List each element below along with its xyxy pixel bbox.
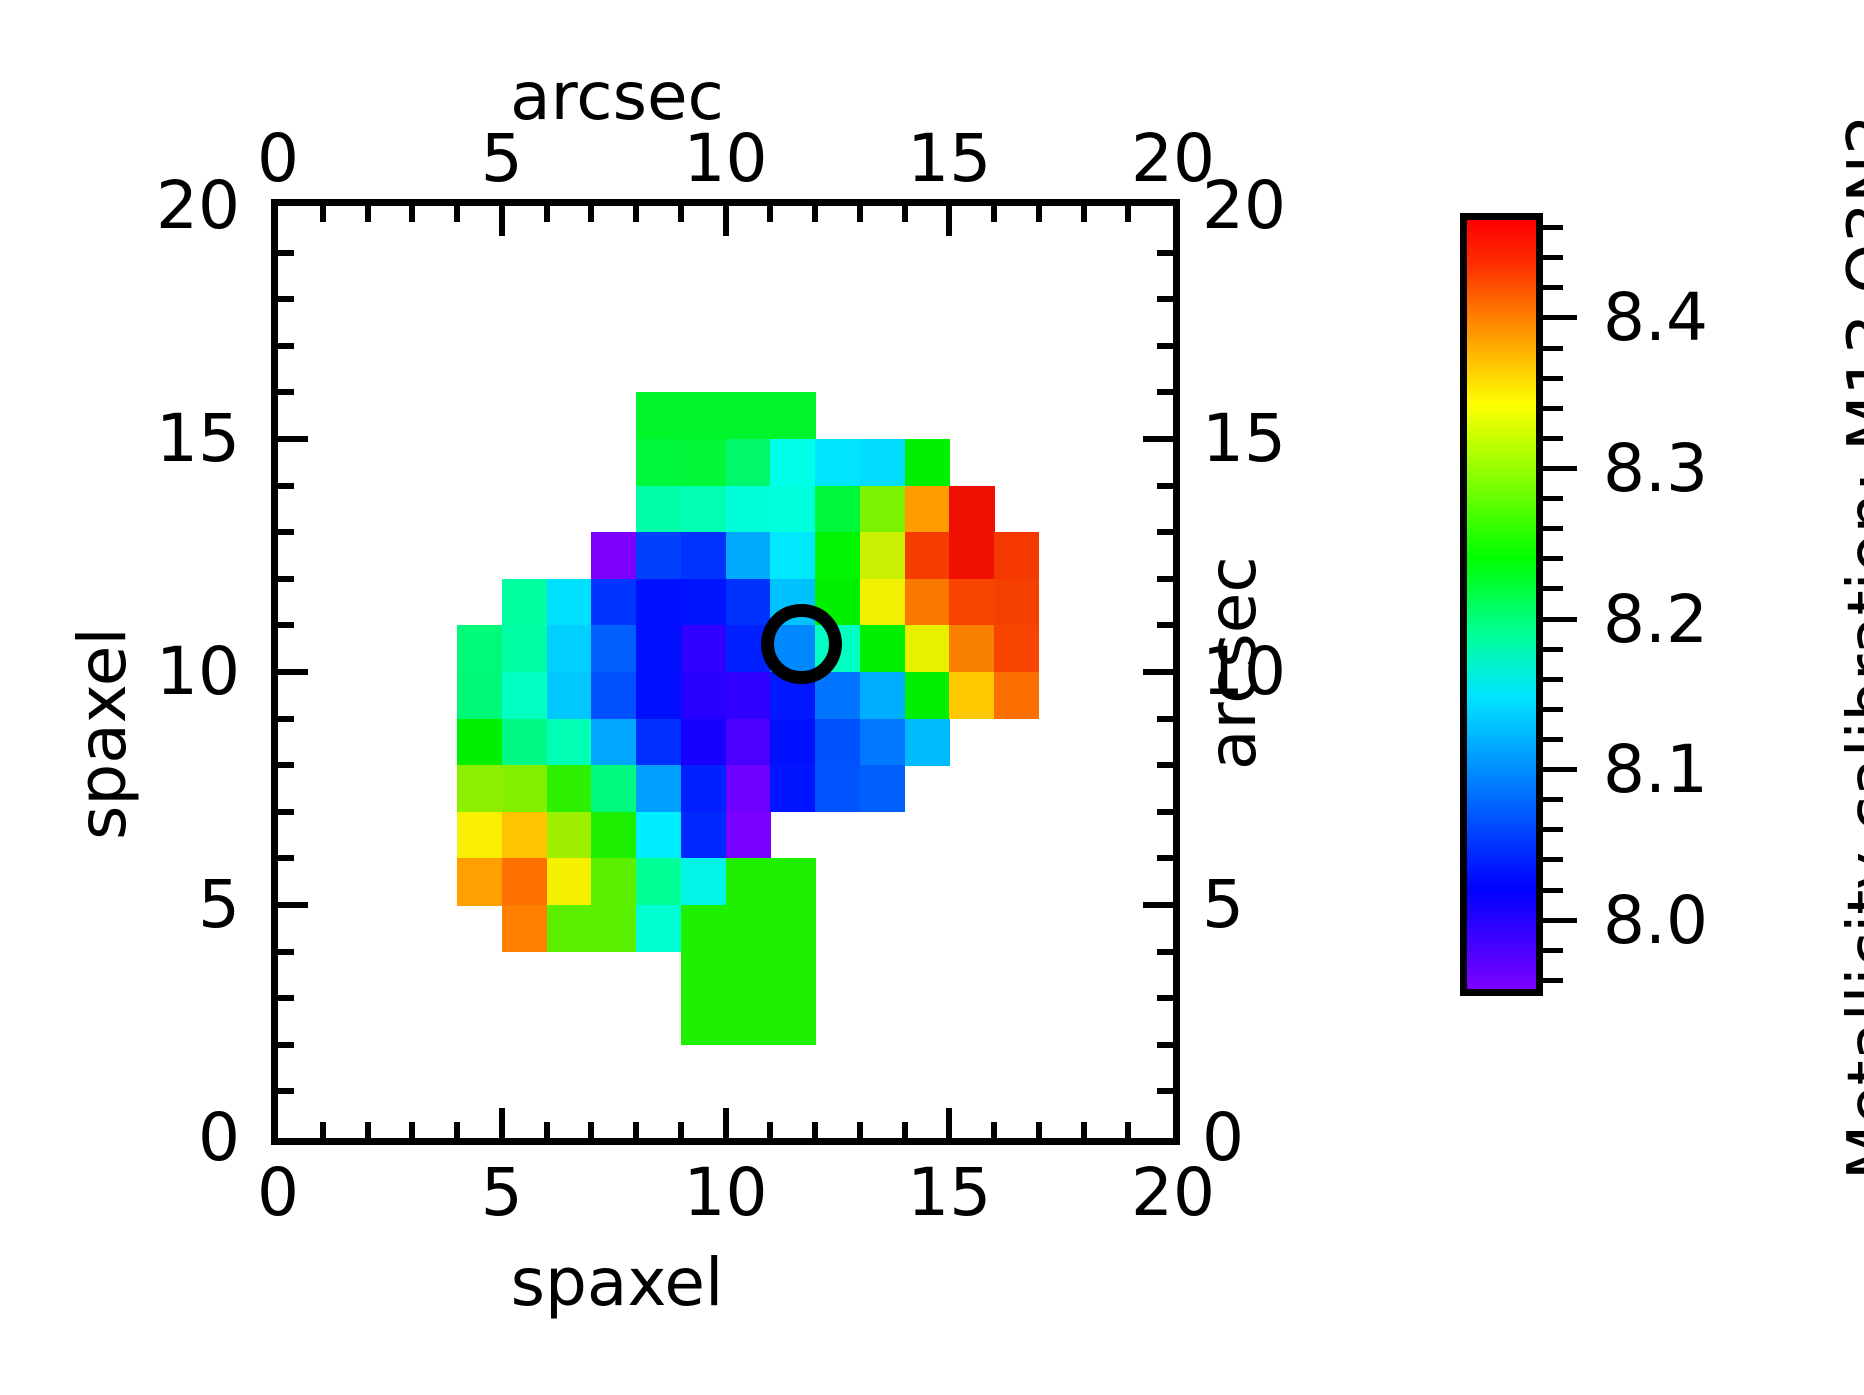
tick-bottom <box>812 1122 818 1138</box>
colorbar-major-tick <box>1543 315 1577 320</box>
spaxel-cell <box>502 812 547 859</box>
spaxel-cell <box>636 719 681 766</box>
colorbar-minor-tick <box>1543 285 1563 290</box>
tick-bottom <box>409 1122 415 1138</box>
left-tick-label: 20 <box>156 173 240 239</box>
spaxel-cell <box>547 812 592 859</box>
colorbar-minor-tick <box>1543 677 1563 682</box>
spaxel-cell <box>905 579 950 626</box>
right-axis-title: arcsec <box>1200 556 1266 770</box>
spaxel-cell <box>681 765 726 812</box>
spaxel-cell <box>502 858 547 905</box>
tick-left <box>278 343 294 349</box>
spaxel-cell <box>726 532 771 579</box>
spaxel-cell <box>681 532 726 579</box>
tick-right <box>1157 622 1173 628</box>
bottom-tick-label: 0 <box>257 1160 299 1226</box>
spaxel-cell <box>636 672 681 719</box>
spaxel-cell <box>591 765 636 812</box>
spaxel-cell <box>726 765 771 812</box>
spaxel-cell <box>994 532 1039 579</box>
tick-right <box>1157 529 1173 535</box>
tick-top <box>454 206 460 222</box>
colorbar-title: Metallicity calibration: M13 O3N2 <box>1840 114 1864 1180</box>
spaxel-cell <box>636 812 681 859</box>
spaxel-cell <box>681 625 726 672</box>
tick-right <box>1157 389 1173 395</box>
tick-top <box>991 206 997 222</box>
spaxel-cell <box>726 905 771 952</box>
spaxel-cell <box>726 486 771 533</box>
colorbar-minor-tick <box>1543 526 1563 531</box>
tick-top <box>365 206 371 222</box>
colorbar-tick-label: 8.3 <box>1603 436 1708 502</box>
tick-left <box>278 296 294 302</box>
spaxel-cell <box>815 486 860 533</box>
spaxel-cell <box>591 625 636 672</box>
tick-left <box>278 436 308 442</box>
tick-bottom <box>723 1108 729 1138</box>
spaxel-cell <box>860 532 905 579</box>
spaxel-cell <box>905 486 950 533</box>
tick-left <box>278 389 294 395</box>
spaxel-cell <box>457 625 502 672</box>
spaxel-cell <box>815 532 860 579</box>
spaxel-cell <box>502 579 547 626</box>
tick-top <box>857 206 863 222</box>
right-tick-label: 20 <box>1202 173 1286 239</box>
spaxel-cell <box>457 719 502 766</box>
spaxel-cell <box>905 625 950 672</box>
tick-bottom <box>633 1122 639 1138</box>
spaxel-cell <box>591 812 636 859</box>
tick-bottom <box>365 1122 371 1138</box>
tick-bottom <box>1036 1122 1042 1138</box>
spaxel-cell <box>860 672 905 719</box>
spaxel-cell <box>547 719 592 766</box>
spaxel-cell <box>502 625 547 672</box>
spaxel-cell <box>815 719 860 766</box>
tick-top <box>946 206 952 236</box>
spaxel-cell <box>726 812 771 859</box>
colorbar-major-tick <box>1543 918 1577 923</box>
tick-left <box>278 949 294 955</box>
spaxel-cell <box>636 392 681 439</box>
left-tick-label: 15 <box>156 406 240 472</box>
spaxel-cell <box>547 858 592 905</box>
spaxel-cell <box>994 625 1039 672</box>
tick-left <box>278 762 294 768</box>
tick-left <box>278 855 294 861</box>
heatmap-canvas <box>278 206 1173 1138</box>
spaxel-cell <box>770 439 815 486</box>
tick-left <box>278 669 308 675</box>
colorbar-gradient <box>1467 220 1536 989</box>
spaxel-cell <box>636 625 681 672</box>
tick-top <box>1036 206 1042 222</box>
tick-right <box>1143 902 1173 908</box>
spaxel-cell <box>547 672 592 719</box>
spaxel-cell <box>905 719 950 766</box>
spaxel-cell <box>726 392 771 439</box>
colorbar-minor-tick <box>1543 707 1563 712</box>
colorbar <box>1460 213 1543 996</box>
colorbar-minor-tick <box>1543 255 1563 260</box>
tick-right <box>1157 762 1173 768</box>
tick-right <box>1157 343 1173 349</box>
tick-right <box>1157 949 1173 955</box>
tick-right <box>1157 995 1173 1001</box>
tick-right <box>1157 855 1173 861</box>
spaxel-cell <box>726 952 771 999</box>
colorbar-tick-label: 8.4 <box>1603 285 1708 351</box>
tick-left <box>278 1042 294 1048</box>
spaxel-cell <box>502 905 547 952</box>
spaxel-cell <box>681 579 726 626</box>
tick-right <box>1157 250 1173 256</box>
spaxel-cell <box>636 439 681 486</box>
right-tick-label: 15 <box>1202 406 1286 472</box>
colorbar-minor-tick <box>1543 496 1563 501</box>
right-tick-label: 5 <box>1202 872 1244 938</box>
colorbar-minor-tick <box>1543 737 1563 742</box>
spaxel-cell <box>681 812 726 859</box>
spaxel-cell <box>681 858 726 905</box>
tick-right <box>1157 483 1173 489</box>
tick-left <box>278 250 294 256</box>
spaxel-cell <box>905 672 950 719</box>
spaxel-cell <box>681 392 726 439</box>
tick-bottom <box>902 1122 908 1138</box>
colorbar-minor-tick <box>1543 857 1563 862</box>
tick-bottom <box>588 1122 594 1138</box>
spaxel-cell <box>949 486 994 533</box>
tick-right <box>1157 296 1173 302</box>
spaxel-cell <box>591 672 636 719</box>
spaxel-cell <box>591 719 636 766</box>
tick-left <box>278 716 294 722</box>
colorbar-tick-label: 8.0 <box>1603 888 1708 954</box>
colorbar-major-tick <box>1543 466 1577 471</box>
spaxel-cell <box>949 579 994 626</box>
top-tick-label: 5 <box>481 126 523 192</box>
tick-bottom <box>544 1122 550 1138</box>
spaxel-cell <box>860 486 905 533</box>
spaxel-cell <box>502 765 547 812</box>
colorbar-minor-tick <box>1543 346 1563 351</box>
tick-top <box>409 206 415 222</box>
top-axis-title: arcsec <box>510 64 724 130</box>
tick-top <box>1081 206 1087 222</box>
spaxel-cell <box>457 672 502 719</box>
colorbar-minor-tick <box>1543 586 1563 591</box>
spaxel-cell <box>770 532 815 579</box>
spaxel-cell <box>770 952 815 999</box>
top-tick-label: 10 <box>684 126 768 192</box>
tick-top <box>320 206 326 222</box>
bottom-axis-title: spaxel <box>511 1250 724 1316</box>
bottom-tick-label: 10 <box>684 1160 768 1226</box>
spaxel-cell <box>681 719 726 766</box>
tick-left <box>278 995 294 1001</box>
tick-right <box>1157 809 1173 815</box>
spaxel-cell <box>726 672 771 719</box>
tick-left <box>278 483 294 489</box>
left-tick-label: 5 <box>198 872 240 938</box>
aperture-circle-marker <box>761 604 842 685</box>
tick-bottom <box>499 1108 505 1138</box>
spaxel-cell <box>591 532 636 579</box>
spaxel-cell <box>726 998 771 1045</box>
tick-right <box>1157 1042 1173 1048</box>
colorbar-major-tick <box>1543 767 1577 772</box>
spaxel-cell <box>949 672 994 719</box>
colorbar-minor-tick <box>1543 647 1563 652</box>
spaxel-cell <box>815 672 860 719</box>
spaxel-cell <box>726 579 771 626</box>
spaxel-cell <box>502 672 547 719</box>
colorbar-minor-tick <box>1543 406 1563 411</box>
spaxel-cell <box>770 392 815 439</box>
tick-right <box>1157 716 1173 722</box>
colorbar-minor-tick <box>1543 978 1563 983</box>
tick-top <box>902 206 908 222</box>
colorbar-minor-tick <box>1543 376 1563 381</box>
spaxel-cell <box>905 439 950 486</box>
spaxel-cell <box>591 905 636 952</box>
tick-top <box>812 206 818 222</box>
spaxel-cell <box>994 579 1039 626</box>
spaxel-cell <box>770 486 815 533</box>
tick-left <box>278 1088 294 1094</box>
tick-top <box>544 206 550 222</box>
tick-bottom <box>767 1122 773 1138</box>
spaxel-cell <box>547 765 592 812</box>
tick-bottom <box>320 1122 326 1138</box>
tick-left <box>278 902 308 908</box>
colorbar-minor-tick <box>1543 556 1563 561</box>
top-tick-label: 15 <box>907 126 991 192</box>
colorbar-minor-tick <box>1543 827 1563 832</box>
colorbar-tick-label: 8.2 <box>1603 587 1708 653</box>
tick-right <box>1157 576 1173 582</box>
spaxel-cell <box>905 532 950 579</box>
spaxel-cell <box>681 998 726 1045</box>
colorbar-minor-tick <box>1543 948 1563 953</box>
spaxel-cell <box>770 719 815 766</box>
tick-top <box>723 206 729 236</box>
tick-bottom <box>857 1122 863 1138</box>
spaxel-cell <box>770 858 815 905</box>
spaxel-cell <box>681 905 726 952</box>
spaxel-cell <box>860 625 905 672</box>
tick-top <box>633 206 639 222</box>
tick-left <box>278 529 294 535</box>
tick-left <box>278 622 294 628</box>
spaxel-cell <box>636 765 681 812</box>
tick-left <box>278 809 294 815</box>
bottom-tick-label: 15 <box>907 1160 991 1226</box>
spaxel-cell <box>770 765 815 812</box>
spaxel-cell <box>860 579 905 626</box>
top-tick-label: 0 <box>257 126 299 192</box>
tick-right <box>1143 669 1173 675</box>
spaxel-cell <box>636 486 681 533</box>
spaxel-cell <box>949 625 994 672</box>
spaxel-cell <box>681 952 726 999</box>
tick-top <box>678 206 684 222</box>
spaxel-cell <box>636 532 681 579</box>
left-tick-label: 0 <box>198 1105 240 1171</box>
tick-bottom <box>946 1108 952 1138</box>
colorbar-minor-tick <box>1543 888 1563 893</box>
spaxel-cell <box>994 672 1039 719</box>
spaxel-cell <box>457 858 502 905</box>
spaxel-cell <box>681 486 726 533</box>
spaxel-cell <box>681 672 726 719</box>
spaxel-cell <box>860 765 905 812</box>
spaxel-cell <box>726 858 771 905</box>
bottom-tick-label: 5 <box>481 1160 523 1226</box>
tick-bottom <box>1081 1122 1087 1138</box>
colorbar-minor-tick <box>1543 797 1563 802</box>
left-tick-label: 10 <box>156 639 240 705</box>
spaxel-cell <box>770 905 815 952</box>
spaxel-cell <box>815 765 860 812</box>
right-tick-label: 0 <box>1202 1105 1244 1171</box>
spaxel-cell <box>591 858 636 905</box>
spaxel-cell <box>457 765 502 812</box>
spaxel-cell <box>591 579 636 626</box>
spaxel-cell <box>636 579 681 626</box>
spaxel-cell <box>949 532 994 579</box>
tick-bottom <box>678 1122 684 1138</box>
spaxel-cell <box>860 439 905 486</box>
tick-top <box>767 206 773 222</box>
metallicity-map-figure: 05101520051015200510152005101520 arcsec … <box>0 0 1864 1395</box>
spaxel-cell <box>815 439 860 486</box>
colorbar-tick-label: 8.1 <box>1603 737 1708 803</box>
colorbar-minor-tick <box>1543 225 1563 230</box>
tick-left <box>278 576 294 582</box>
spaxel-cell <box>681 439 726 486</box>
tick-bottom <box>1125 1122 1131 1138</box>
spaxel-cell <box>547 625 592 672</box>
spaxel-cell <box>502 719 547 766</box>
spaxel-cell <box>636 905 681 952</box>
spaxel-cell <box>636 858 681 905</box>
tick-top <box>499 206 505 236</box>
tick-right <box>1157 1088 1173 1094</box>
spaxel-cell <box>726 719 771 766</box>
tick-top <box>1125 206 1131 222</box>
spaxel-cell <box>457 812 502 859</box>
spaxel-cell <box>770 998 815 1045</box>
spaxel-cell <box>547 579 592 626</box>
tick-bottom <box>991 1122 997 1138</box>
colorbar-major-tick <box>1543 617 1577 622</box>
tick-top <box>588 206 594 222</box>
spaxel-cell <box>860 719 905 766</box>
spaxel-cell <box>726 439 771 486</box>
colorbar-minor-tick <box>1543 436 1563 441</box>
tick-bottom <box>454 1122 460 1138</box>
left-axis-title: spaxel <box>70 627 136 840</box>
tick-right <box>1143 436 1173 442</box>
spaxel-cell <box>547 905 592 952</box>
